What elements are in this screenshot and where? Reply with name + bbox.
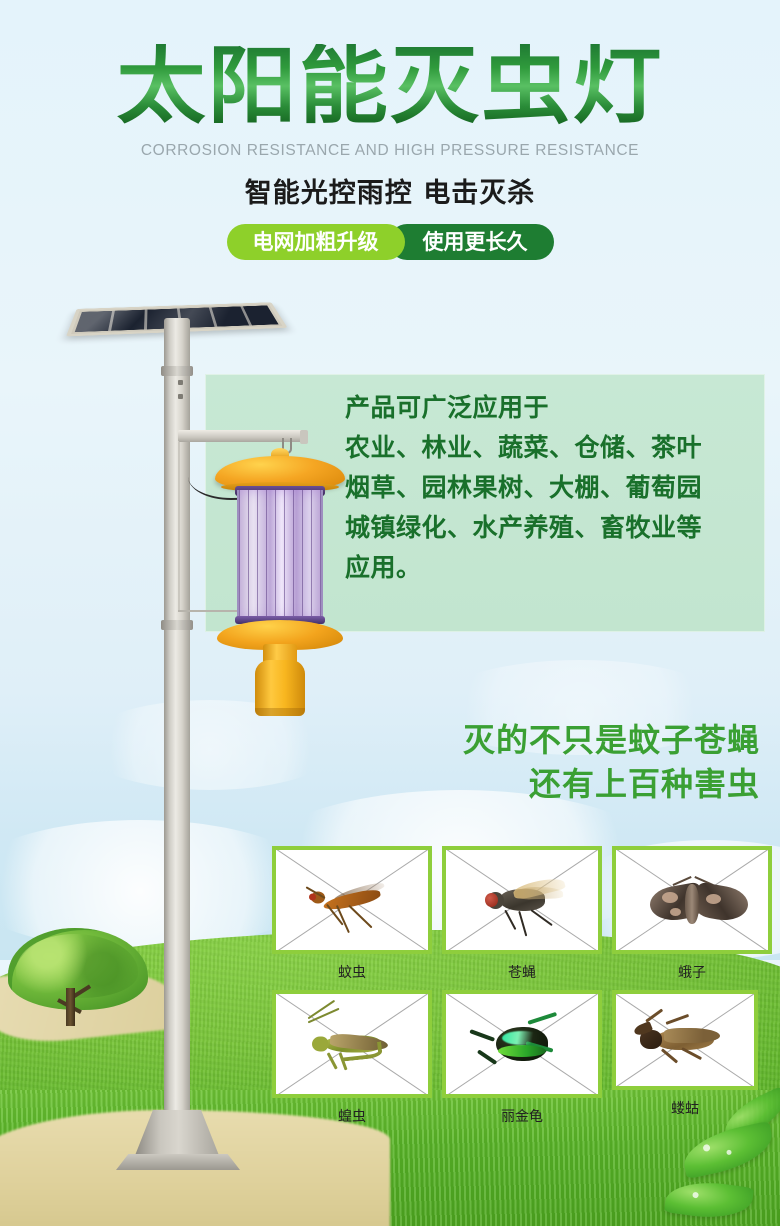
insect-image-frame: [612, 846, 772, 954]
application-line-1: 产品可广泛应用于: [345, 388, 755, 428]
application-line-3: 烟草、园林果树、大棚、葡萄园: [345, 468, 755, 508]
insect-row-1: 蚊虫 苍蝇: [272, 846, 772, 982]
pole-bolt: [178, 394, 183, 399]
pole-bolt: [178, 380, 183, 385]
insect-label: 丽金龟: [442, 1106, 602, 1126]
pole-base: [134, 1110, 220, 1158]
insect-card-mole-cricket[interactable]: 蝼蛄: [612, 990, 758, 1126]
insect-grid: 蚊虫 苍蝇: [272, 846, 772, 1126]
uv-tube-cage: [237, 490, 323, 620]
lamp-pole: [164, 318, 190, 1148]
header-block: 太阳能灭虫灯 CORROSION RESISTANCE AND HIGH PRE…: [0, 44, 780, 260]
badge-grid-upgrade: 电网加粗升级: [227, 224, 405, 260]
insect-image-frame: [442, 990, 602, 1098]
insect-image-frame: [272, 990, 432, 1098]
insect-card-chafer[interactable]: 丽金龟: [442, 990, 602, 1126]
lamp-head: [215, 456, 345, 716]
mole-cricket-icon: [656, 1030, 714, 1050]
insect-label: 蚊虫: [272, 962, 432, 982]
locust-icon: [324, 1036, 380, 1053]
pole-base-plate: [116, 1154, 240, 1170]
crossarm-end-cap: [300, 430, 308, 444]
support-rod-vertical: [178, 442, 180, 612]
chafer-beetle-icon: [496, 1027, 548, 1061]
insect-image-frame: [442, 846, 602, 954]
kill-headline: 灭的不只是蚊子苍蝇 还有上百种害虫: [380, 718, 770, 806]
product-poster: 太阳能灭虫灯 CORROSION RESISTANCE AND HIGH PRE…: [0, 0, 780, 1226]
application-line-4: 城镇绿化、水产养殖、畜牧业等: [345, 508, 755, 548]
application-text: 产品可广泛应用于 农业、林业、蔬菜、仓储、茶叶 烟草、园林果树、大棚、葡萄园 城…: [345, 388, 755, 588]
subtitle-english: CORROSION RESISTANCE AND HIGH PRESSURE R…: [0, 142, 780, 160]
insect-row-2: 蝗虫 丽金龟: [272, 990, 772, 1126]
insect-image-frame: [612, 990, 758, 1090]
insect-card-moth[interactable]: 蛾子: [612, 846, 772, 982]
insect-label: 蛾子: [612, 962, 772, 982]
pole-collar: [161, 366, 193, 376]
insect-card-mosquito[interactable]: 蚊虫: [272, 846, 432, 982]
application-line-5: 应用。: [345, 548, 755, 588]
mosquito-icon: [323, 894, 381, 907]
page-title: 太阳能灭虫灯: [117, 44, 664, 128]
kill-headline-line1: 灭的不只是蚊子苍蝇: [380, 718, 760, 762]
insect-card-fly[interactable]: 苍蝇: [442, 846, 602, 982]
collection-bucket: [255, 660, 305, 716]
insect-image-frame: [272, 846, 432, 954]
fly-icon: [499, 889, 545, 911]
insect-card-locust[interactable]: 蝗虫: [272, 990, 432, 1126]
application-line-2: 农业、林业、蔬菜、仓储、茶叶: [345, 428, 755, 468]
pole-collar: [161, 620, 193, 630]
badge-long-lasting: 使用更长久: [389, 224, 554, 260]
insect-label: 蝗虫: [272, 1106, 432, 1126]
feature-badges: 电网加粗升级 使用更长久: [0, 224, 780, 260]
kill-headline-line2: 还有上百种害虫: [380, 762, 760, 806]
insect-label: 苍蝇: [442, 962, 602, 982]
subtitle-chinese: 智能光控雨控 电击灭杀: [0, 171, 780, 210]
